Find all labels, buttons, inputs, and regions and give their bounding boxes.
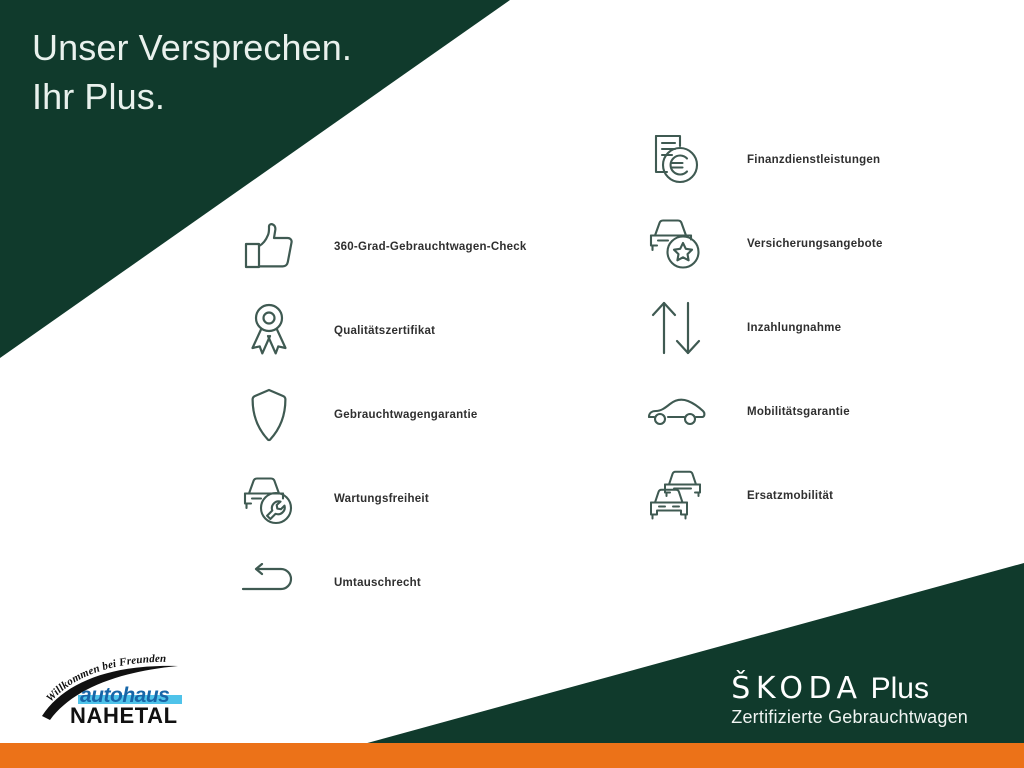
brand-tagline: Zertifizierte Gebrauchtwagen xyxy=(731,707,968,728)
feature-label: Versicherungsangebote xyxy=(747,238,883,250)
feature-item: Finanzdienstleistungen xyxy=(645,118,1005,202)
arrows-up-down-icon xyxy=(645,298,707,358)
feature-item: Inzahlungnahme xyxy=(645,286,1005,370)
feature-label: Umtauschrecht xyxy=(334,577,421,589)
feature-label: 360-Grad-Gebrauchtwagen-Check xyxy=(334,241,527,253)
car-star-icon xyxy=(645,214,707,274)
page-title: Unser Versprechen. Ihr Plus. xyxy=(32,24,352,121)
car-wrench-icon xyxy=(238,469,300,529)
return-arrow-icon xyxy=(238,553,300,613)
plus-wordmark: Plus xyxy=(871,672,929,705)
feature-item: Ersatzmobilität xyxy=(645,454,1005,538)
thumbs-up-icon xyxy=(238,217,300,277)
skoda-wordmark: ŠKODA xyxy=(731,671,862,706)
dealer-logo: Willkommen bei Freunden autohaus NAHETAL xyxy=(38,650,198,728)
feature-label: Inzahlungnahme xyxy=(747,322,841,334)
feature-item: Umtauschrecht xyxy=(238,541,618,625)
feature-label: Qualitätszertifikat xyxy=(334,325,435,337)
feature-label: Ersatzmobilität xyxy=(747,490,833,502)
orange-accent-bar xyxy=(0,743,1024,768)
skoda-plus-logo: ŠKODAPlus Zertifizierte Gebrauchtwagen xyxy=(731,673,968,729)
feature-item: Qualitätszertifikat xyxy=(238,289,618,373)
feature-item: Versicherungsangebote xyxy=(645,202,1005,286)
two-cars-icon xyxy=(645,466,707,526)
car-side-icon xyxy=(645,382,707,442)
award-rosette-icon xyxy=(238,301,300,361)
feature-label: Gebrauchtwagengarantie xyxy=(334,409,478,421)
feature-label: Mobilitätsgarantie xyxy=(747,406,850,418)
feature-list-left: 360-Grad-Gebrauchtwagen-Check Qualitätsz… xyxy=(238,205,618,625)
promo-banner: Unser Versprechen. Ihr Plus. 360-Grad-Ge… xyxy=(0,0,1024,768)
shield-icon xyxy=(238,385,300,445)
feature-item: Wartungsfreiheit xyxy=(238,457,618,541)
feature-list-right: Finanzdienstleistungen Versicherungsange… xyxy=(645,118,1005,538)
dealer-name-bottom: NAHETAL xyxy=(70,703,178,728)
brand-line: ŠKODAPlus xyxy=(731,673,968,705)
feature-label: Finanzdienstleistungen xyxy=(747,154,880,166)
feature-item: Mobilitätsgarantie xyxy=(645,370,1005,454)
feature-item: Gebrauchtwagengarantie xyxy=(238,373,618,457)
document-euro-icon xyxy=(645,130,707,190)
feature-item: 360-Grad-Gebrauchtwagen-Check xyxy=(238,205,618,289)
feature-label: Wartungsfreiheit xyxy=(334,493,429,505)
